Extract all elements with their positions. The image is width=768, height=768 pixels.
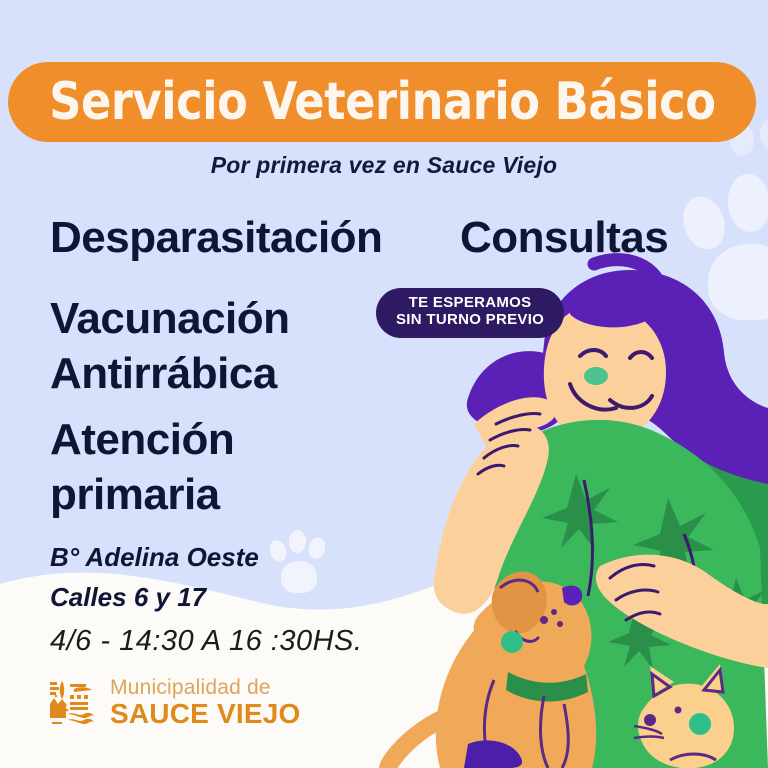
logo-line-top: Municipalidad de	[110, 677, 300, 698]
subtitle: Por primera vez en Sauce Viejo	[0, 152, 768, 179]
service-consultas: Consultas	[460, 216, 668, 260]
logo-text: Municipalidad de SAUCE VIEJO	[110, 677, 300, 728]
address-line-1: B° Adelina Oeste	[50, 542, 259, 573]
page-title: Servicio Veterinario Básico	[49, 76, 715, 128]
no-appointment-badge: TE ESPERAMOS SIN TURNO PREVIO	[376, 288, 564, 338]
logo-line-bottom: SAUCE VIEJO	[110, 700, 300, 728]
service-atencion-primaria-line1: Atención	[50, 418, 234, 462]
service-vacunacion: Vacunación	[50, 297, 290, 341]
badge-line-1: TE ESPERAMOS	[396, 295, 544, 312]
badge-line-2: SIN TURNO PREVIO	[396, 312, 544, 329]
poster-canvas: Servicio Veterinario Básico Por primera …	[0, 0, 768, 768]
service-antirrabica: Antirrábica	[50, 352, 277, 396]
municipality-emblem-icon	[46, 676, 98, 728]
municipality-logo: Municipalidad de SAUCE VIEJO	[46, 676, 300, 728]
date-time-line: 4/6 - 14:30 A 16 :30HS.	[50, 625, 362, 658]
service-atencion-primaria-line2: primaria	[50, 473, 220, 517]
address-line-2: Calles 6 y 17	[50, 582, 206, 613]
title-pill: Servicio Veterinario Básico	[8, 62, 756, 142]
service-desparasitacion: Desparasitación	[50, 216, 382, 260]
